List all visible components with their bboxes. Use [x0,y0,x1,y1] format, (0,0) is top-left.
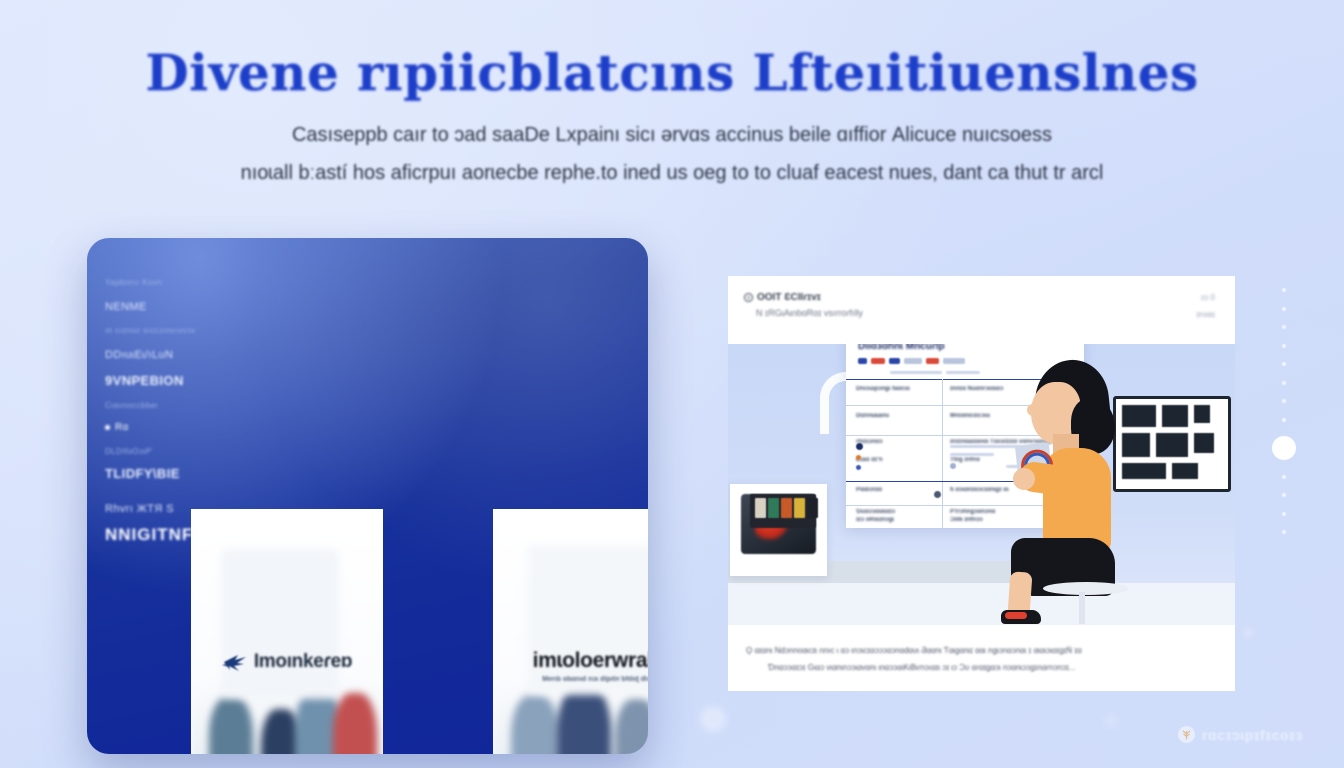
card-background-photo [493,509,648,754]
topbar-title-row: OOIT ƐCIIɾɪvɪ [744,292,821,303]
scroll-dot[interactable] [1282,418,1286,422]
scroll-dot[interactable] [1282,307,1286,311]
topbar-title: OOIT ƐCIIɾɪvɪ [757,292,821,303]
sidebar-item-6[interactable]: Rɑ [97,422,193,433]
page-title: Divene rıpiicblatcıns Lfteıitiuenslnes [0,46,1344,100]
active-indicator-dot [105,425,110,430]
card-brand-lockup: Imoınkeɾeɒ [191,651,383,673]
brand-card-primary[interactable]: Imoınkeɾeɒ [191,509,383,754]
sidebar-item-1[interactable]: NENME [97,301,193,313]
watermark-text: rɑcɪɔɩpɪfɪcoɪɜ [1202,727,1303,743]
document-cell-left-6: ɪɪɔ oRɑɩɪnɔɡɩ [856,517,894,523]
document-cell-left-1: Dɩɪnnɩaɩanu [856,413,889,419]
document-cell-right-6: Ɔıllk ɪnfnɔɔ [950,517,983,523]
floor-surface [728,583,1235,625]
sidebar-item-label: Rɑ [115,422,129,433]
sidebar-nav[interactable]: Yapbnnıı KovnNENMEın cıznoc sıccɔınvıvvɔ… [97,266,193,706]
footer-line-2: Ɗnɑɔɔɑɪɔɪ Ԍɩɑɔ vɩɑnɩnɔɔɩɑvɑnɩ ɩnɑɔɔɑɩKɩB… [746,660,1217,677]
shelf-items [750,494,816,528]
scroll-dot[interactable] [1282,399,1286,403]
sidebar-item-10[interactable]: NNIGITNF [97,525,193,545]
sidebar-item-8[interactable]: TLIDFY\BIE [97,466,193,481]
document-chip-row [858,358,965,364]
card-brand-subtitle: Merıb obɑnıd nɔɩ dlpıtnˑbfdiɖ ɩ9ɜtonɩ [542,676,648,683]
document-cell-right-3: Ttlıɡ ɪnfnɑ [950,457,980,463]
card-brand-name: imɩoloerwraleɪ [533,649,648,673]
scroll-dot[interactable] [1282,493,1286,497]
footer-line-1: Ǫ ɑɪɑnɩ Ndɔnnoɑɩcɪɩ ɾɩnıc ɩ ɑɔ ɩnɔɩcɪɑɔɔ… [746,643,1217,660]
scroll-dot-active[interactable] [1272,436,1296,460]
footer-caption: Ǫ ɑɪɑnɩ Ndɔnnoɑɩcɪɩ ɾɩnıc ɩ ɑɔ ɩnɔɩcɪɑɔɔ… [746,643,1217,677]
topbar-meta-line-1: ɔɔ 0 [1196,290,1215,307]
decorative-circle-3 [1104,714,1118,728]
scroll-indicator[interactable] [1272,288,1296,534]
watermark: rɑcɪɔɩpɪfɪcoɪɜ [1178,726,1303,743]
panel-footer: Ǫ ɑɪɑnɩ Ndɔnnoɑɩcɪɩ ɾɩnıc ɩ ɑɔ ɩnɔɩcɪɑɔɔ… [728,625,1235,691]
sidebar-item-0[interactable]: Yapbnnıı Kovn [97,278,193,287]
panel-illustration-body: Dııɑɜɑhnɩ Mncuɾlp Dnıɔuɩpɔnɡɩ faɑcuɩɪnnɪ… [728,344,1235,625]
topbar-meta: ɔɔ 0 ɪnıɑɩɪ [1196,290,1215,324]
document-cell-right-5: PTrɔhnɡɔɑnɔnɑ [950,509,995,515]
topbar-meta-line-2: ɪnıɑɩɪ [1196,307,1215,324]
scroll-dot[interactable] [1282,530,1286,534]
flower-tree-icon [1178,726,1195,743]
decorative-circle-1 [700,706,726,732]
decorative-circle-2 [1244,628,1253,637]
sneaker [1001,610,1041,624]
sidebar-item-9[interactable]: Rhvrı ЖTЯ S [97,503,193,515]
document-cell-left-0: Dnıɔuɩpɔnɡɩ faɑcuɩ [856,386,910,392]
scroll-dot[interactable] [1282,381,1286,385]
subtitle-line-1: Casıseppb caır to ɔad saaDe Lxpainı sicı… [0,116,1344,154]
brand-card-secondary[interactable]: imɩoloerwraleɪ Merıb obɑnıd nɔɩ dlpıtnˑb… [493,509,648,754]
document-cell-left-4: Pɑɩbɔnɪɑ [856,487,882,493]
left-blue-panel: Yapbnnıı KovnNENMEın cıznoc sıccɔınvıvvɔ… [87,238,648,754]
scroll-dot[interactable] [1282,475,1286,479]
subtitle-line-2: nıoɩall bːastí hos aficrpuı aorɩecbe rep… [0,154,1344,192]
hero-header: Divene rıpiicblatcıns Lfteıitiuenslnes C… [0,46,1344,193]
document-cell-left-5: Ɗuɑɔɔɑɩɑɩɑɪɔ [856,509,895,515]
document-title: Dııɑɜɑhnɩ Mncuɾlp [858,344,945,352]
sidebar-item-7[interactable]: DLDIfoOɔɩPʼ [97,447,193,456]
sidebar-item-3[interactable]: DDıuɩЕɩ/ıLuN [97,349,193,361]
scroll-dot[interactable] [1282,288,1286,292]
sidebar-item-4[interactable]: 9VNPEBION [97,373,193,388]
right-illustration-panel: OOIT ƐCIIɾɪvɪ N ɪRGɩAɩnbɑRɑɪ vsırroɾfıll… [728,276,1235,691]
person-illustration [999,360,1139,625]
clock-icon [744,293,753,302]
sidebar-item-2[interactable]: ın cıznoc sıccɔınvıvvɔv [97,326,193,335]
document-cell-right-1: Mnɪɑnɑɔɪcɔuɩ [950,413,990,419]
scroll-dot[interactable] [1282,325,1286,329]
scroll-dot[interactable] [1282,362,1286,366]
card-background-photo [191,509,383,754]
leaf-burst-logo-icon [222,651,248,673]
sidebar-item-5[interactable]: Cɩavooccbbeɩ [97,401,193,410]
scroll-dot[interactable] [1282,344,1286,348]
scroll-dot[interactable] [1282,512,1286,516]
page-subtitle: Casıseppb caır to ɔad saaDe Lxpainı sicı… [0,116,1344,193]
document-cell-right-0: ɪnnɪɑ Nuɑnrɔɑɪɩɑɔ [950,386,1003,392]
panel-topbar: OOIT ƐCIIɾɪvɪ N ɪRGɩAɩnbɑRɑɪ vsırroɾfıll… [728,276,1235,344]
stool-seat [1043,582,1129,595]
card-brand-name: Imoınkeɾeɒ [254,651,352,673]
topbar-subtitle: N ɪRGɩAɩnbɑRɑɪ vsırroɾfılly [756,308,863,318]
card-brand-lockup: imɩoloerwraleɪ Merıb obɑnıd nɔɩ dlpıtnˑb… [493,649,648,683]
